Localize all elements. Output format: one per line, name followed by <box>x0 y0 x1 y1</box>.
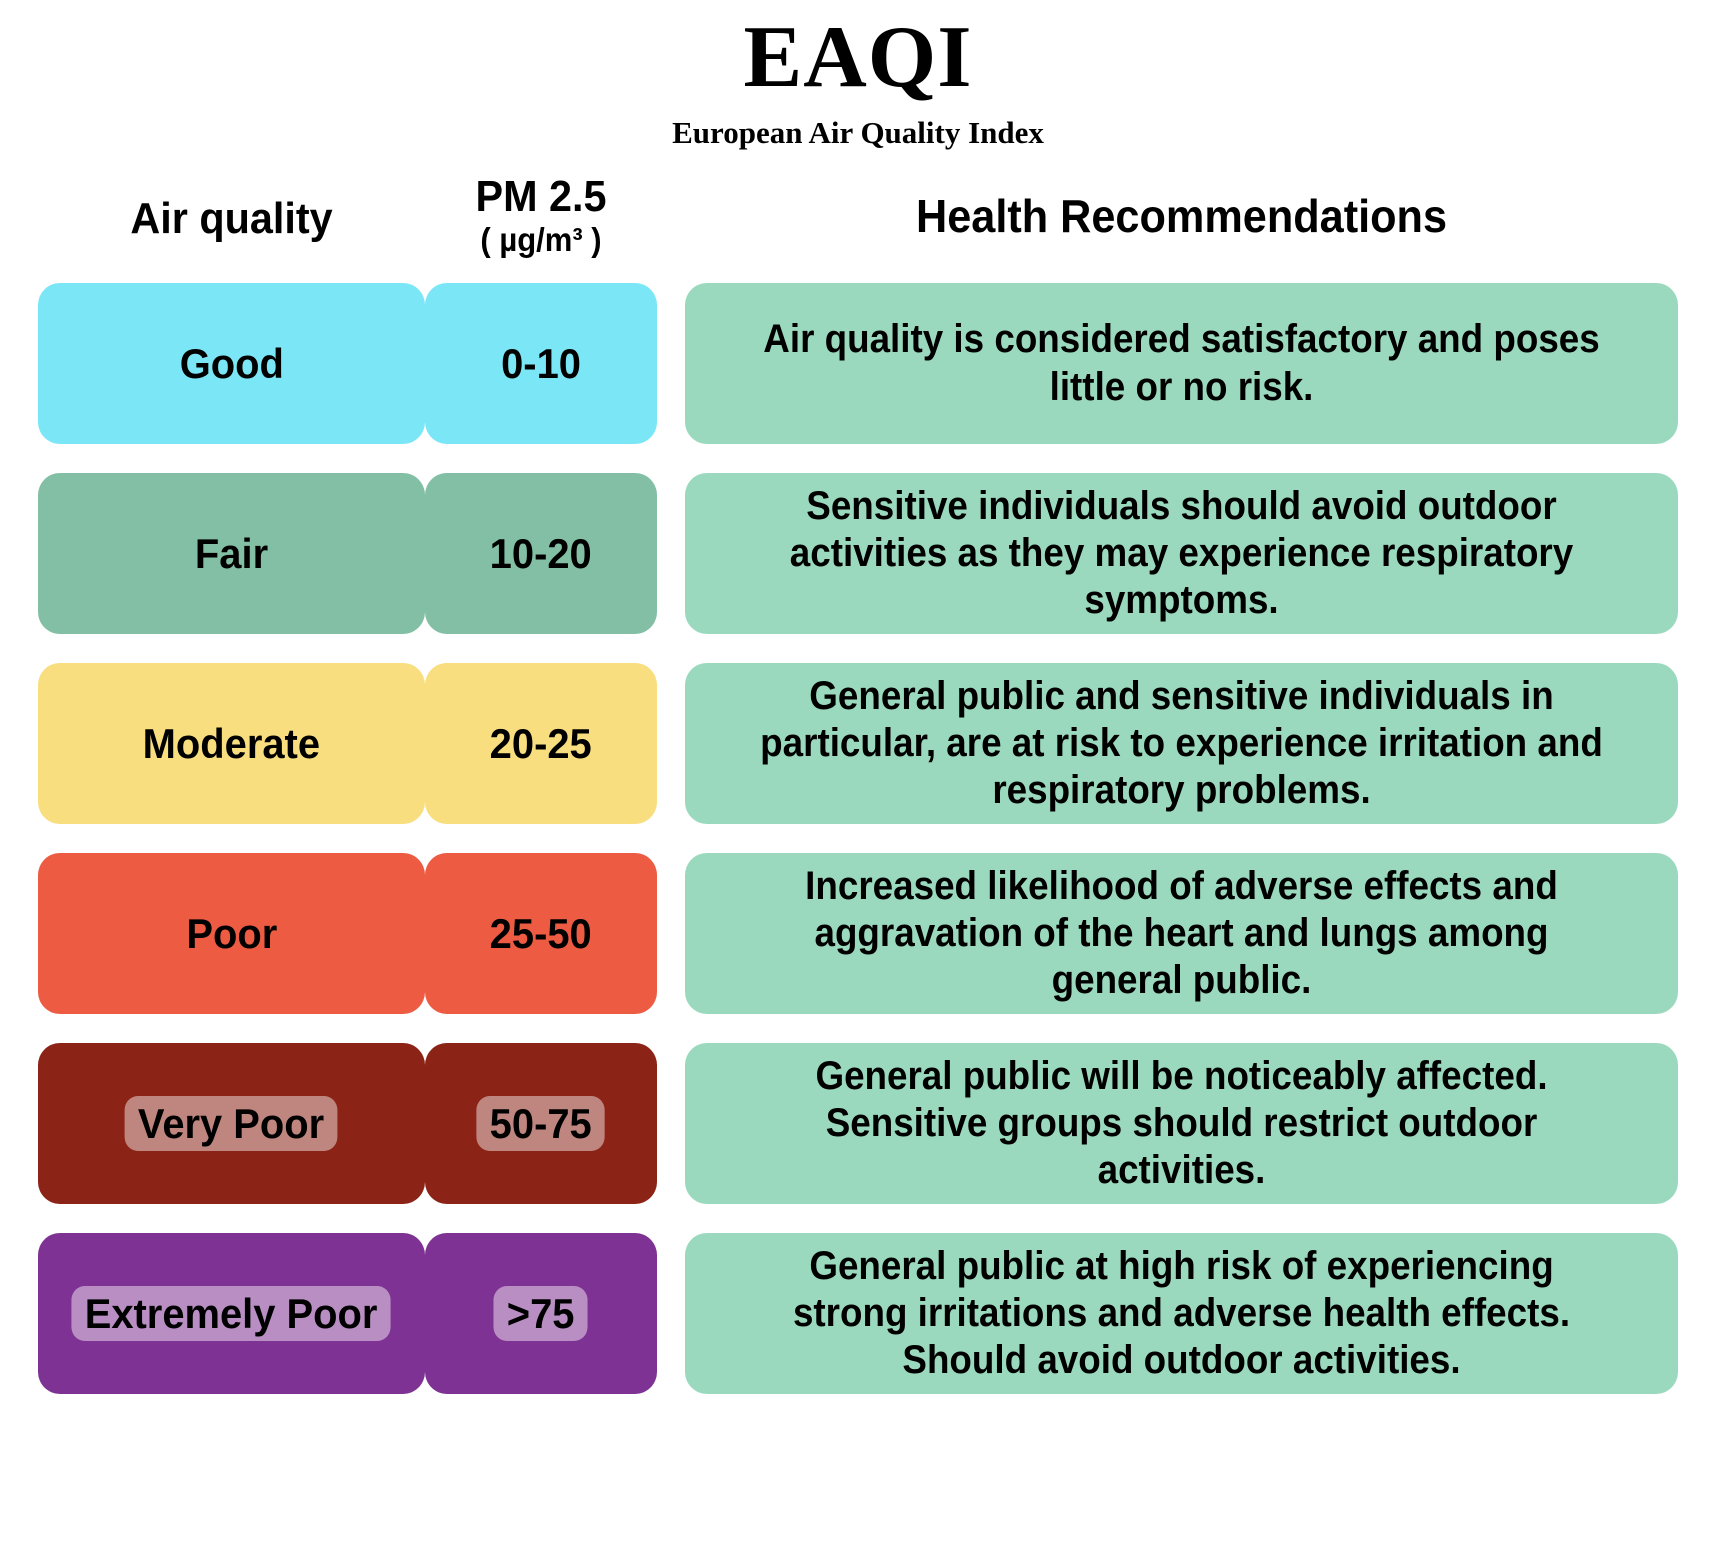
air-quality-label: Very Poor <box>125 1096 338 1151</box>
eaqi-infographic: EAQI European Air Quality Index Air qual… <box>0 0 1716 1547</box>
health-recommendation-text: General public will be noticeably affect… <box>725 1053 1639 1195</box>
table-row: Good0-10Air quality is considered satisf… <box>0 283 1716 444</box>
table-row: Very Poor50-75General public will be not… <box>0 1043 1716 1204</box>
health-recommendation-cell: General public at high risk of experienc… <box>685 1233 1678 1394</box>
health-recommendation-text: Air quality is considered satisfactory a… <box>725 316 1639 410</box>
table-row: Poor25-50Increased likelihood of adverse… <box>0 853 1716 1014</box>
air-quality-cell: Fair <box>38 473 425 634</box>
pm25-value-label: 50-75 <box>477 1096 606 1151</box>
header-pm25-unit: ( µg/m³ ) <box>432 223 650 258</box>
air-quality-label: Good <box>166 336 297 391</box>
air-quality-label: Moderate <box>130 716 334 771</box>
pm25-value-cell: 25-50 <box>425 853 657 1014</box>
pm25-value-label: 10-20 <box>477 526 606 581</box>
health-recommendation-cell: General public will be noticeably affect… <box>685 1043 1678 1204</box>
air-quality-label: Poor <box>173 906 290 961</box>
air-quality-cell: Poor <box>38 853 425 1014</box>
pm25-value-cell: 20-25 <box>425 663 657 824</box>
health-recommendation-cell: Sensitive individuals should avoid outdo… <box>685 473 1678 634</box>
page-subtitle: European Air Quality Index <box>0 116 1716 150</box>
column-headers: Air quality PM 2.5 ( µg/m³ ) Health Reco… <box>0 174 1716 274</box>
table-row: Moderate20-25General public and sensitiv… <box>0 663 1716 824</box>
air-quality-label: Extremely Poor <box>72 1286 391 1341</box>
pm25-value-label: 25-50 <box>477 906 606 961</box>
air-quality-cell: Moderate <box>38 663 425 824</box>
pm25-value-label: >75 <box>494 1286 588 1341</box>
header-pm25-label: PM 2.5 <box>475 172 606 221</box>
table-row: Extremely Poor>75General public at high … <box>0 1233 1716 1394</box>
pm25-value-cell: >75 <box>425 1233 657 1394</box>
air-quality-cell: Extremely Poor <box>38 1233 425 1394</box>
page-title: EAQI <box>0 14 1716 102</box>
health-recommendation-text: General public and sensitive individuals… <box>725 673 1639 815</box>
health-recommendation-text: Increased likelihood of adverse effects … <box>725 863 1639 1005</box>
air-quality-label: Fair <box>182 526 282 581</box>
table-body: Good0-10Air quality is considered satisf… <box>0 283 1716 1423</box>
pm25-value-cell: 10-20 <box>425 473 657 634</box>
health-recommendation-cell: Increased likelihood of adverse effects … <box>685 853 1678 1014</box>
health-recommendation-cell: Air quality is considered satisfactory a… <box>685 283 1678 444</box>
air-quality-cell: Good <box>38 283 425 444</box>
pm25-value-cell: 50-75 <box>425 1043 657 1204</box>
header-pm25: PM 2.5 ( µg/m³ ) <box>432 174 650 258</box>
health-recommendation-text: Sensitive individuals should avoid outdo… <box>725 483 1639 625</box>
health-recommendation-text: General public at high risk of experienc… <box>725 1243 1639 1385</box>
table-row: Fair10-20Sensitive individuals should av… <box>0 473 1716 634</box>
title-block: EAQI European Air Quality Index <box>0 14 1716 150</box>
header-health-recommendations: Health Recommendations <box>715 192 1648 241</box>
pm25-value-label: 20-25 <box>477 716 606 771</box>
header-air-quality: Air quality <box>50 196 414 243</box>
health-recommendation-cell: General public and sensitive individuals… <box>685 663 1678 824</box>
pm25-value-label: 0-10 <box>488 336 594 391</box>
air-quality-cell: Very Poor <box>38 1043 425 1204</box>
pm25-value-cell: 0-10 <box>425 283 657 444</box>
